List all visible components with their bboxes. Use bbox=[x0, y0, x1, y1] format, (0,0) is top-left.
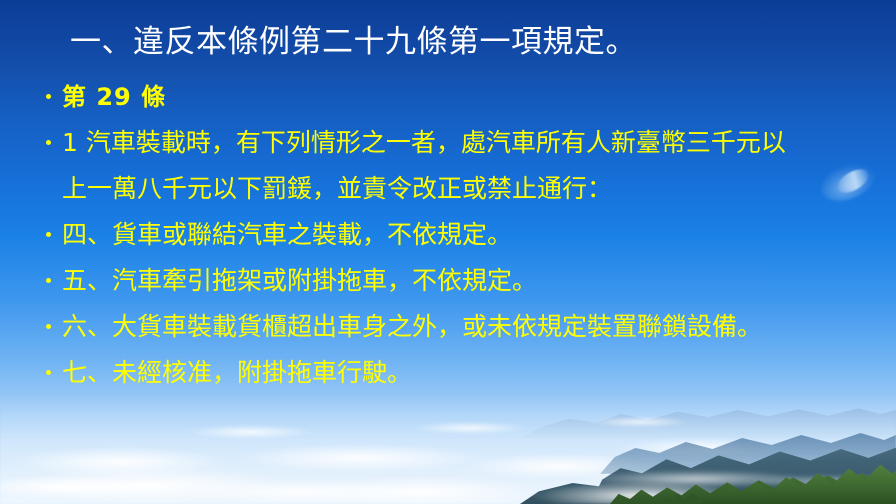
bullet-dot-icon bbox=[46, 278, 51, 283]
list-item: 第 29 條 bbox=[40, 74, 880, 120]
list-item-text: 1 汽車裝載時，有下列情形之一者，處汽車所有人新臺幣三千元以 bbox=[62, 128, 786, 157]
list-item: 1 汽車裝載時，有下列情形之一者，處汽車所有人新臺幣三千元以 上一萬八千元以下罰… bbox=[40, 120, 880, 212]
list-item-text: 四、貨車或聯結汽車之裝載，不依規定。 bbox=[62, 220, 512, 249]
slide-content: 一、違反本條例第二十九條第一項規定。 第 29 條 1 汽車裝載時，有下列情形之… bbox=[0, 0, 896, 504]
presentation-slide: 一、違反本條例第二十九條第一項規定。 第 29 條 1 汽車裝載時，有下列情形之… bbox=[0, 0, 896, 504]
list-item: 四、貨車或聯結汽車之裝載，不依規定。 bbox=[40, 212, 880, 258]
list-item: 六、大貨車裝載貨櫃超出車身之外，或未依規定裝置聯鎖設備。 bbox=[40, 304, 880, 350]
list-item-text: 七、未經核准，附掛拖車行駛。 bbox=[62, 358, 412, 387]
slide-title: 一、違反本條例第二十九條第一項規定。 bbox=[70, 22, 870, 62]
bullet-list: 第 29 條 1 汽車裝載時，有下列情形之一者，處汽車所有人新臺幣三千元以 上一… bbox=[40, 74, 880, 396]
bullet-dot-icon bbox=[46, 140, 51, 145]
list-item: 七、未經核准，附掛拖車行駛。 bbox=[40, 350, 880, 396]
list-item-text: 六、大貨車裝載貨櫃超出車身之外，或未依規定裝置聯鎖設備。 bbox=[62, 312, 762, 341]
list-item-text-continued: 上一萬八千元以下罰鍰，並責令改正或禁止通行： bbox=[62, 166, 880, 212]
list-item-text: 五、汽車牽引拖架或附掛拖車，不依規定。 bbox=[62, 266, 537, 295]
list-item: 五、汽車牽引拖架或附掛拖車，不依規定。 bbox=[40, 258, 880, 304]
bullet-dot-icon bbox=[46, 324, 51, 329]
bullet-dot-icon bbox=[46, 232, 51, 237]
list-item-text: 第 29 條 bbox=[62, 83, 166, 111]
bullet-dot-icon bbox=[46, 94, 51, 99]
bullet-dot-icon bbox=[46, 370, 51, 375]
